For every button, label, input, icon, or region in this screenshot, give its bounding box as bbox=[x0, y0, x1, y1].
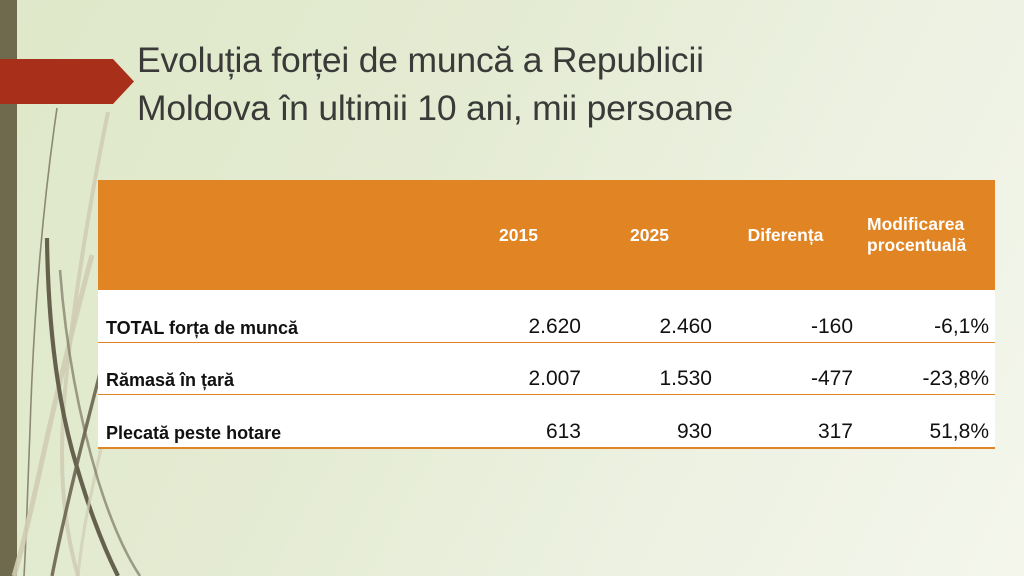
table-body: TOTAL forța de muncă 2.620 2.460 -160 -6… bbox=[98, 290, 995, 448]
page-title: Evoluția forței de muncă a Republicii Mo… bbox=[137, 36, 897, 132]
row-label-departed: Plecată peste hotare bbox=[98, 395, 458, 448]
table-row: Plecată peste hotare 613 930 317 51,8% bbox=[98, 395, 995, 448]
cell-remained-2025: 1.530 bbox=[589, 342, 720, 395]
table-header-row: 2015 2025 Diferența Modificarea procentu… bbox=[98, 180, 995, 290]
page-title-line-1: Evoluția forței de muncă a Republicii bbox=[137, 36, 897, 84]
column-header-percent-change: Modificarea procentuală bbox=[861, 180, 995, 290]
column-header-label bbox=[98, 180, 458, 290]
column-header-percent-change-line-2: procentuală bbox=[867, 235, 966, 255]
cell-remained-percent-change: -23,8% bbox=[861, 342, 995, 395]
cell-departed-difference: 317 bbox=[720, 395, 861, 448]
column-header-difference: Diferența bbox=[720, 180, 861, 290]
table-header-row-group: 2015 2025 Diferența Modificarea procentu… bbox=[98, 180, 995, 290]
row-label-total: TOTAL forța de muncă bbox=[98, 290, 458, 342]
page-title-line-2: Moldova în ultimii 10 ani, mii persoane bbox=[137, 84, 897, 132]
table-row: Rămasă în țară 2.007 1.530 -477 -23,8% bbox=[98, 342, 995, 395]
cell-departed-2025: 930 bbox=[589, 395, 720, 448]
column-header-percent-change-line-1: Modificarea bbox=[867, 214, 964, 234]
cell-departed-2015: 613 bbox=[458, 395, 589, 448]
cell-total-2015: 2.620 bbox=[458, 290, 589, 342]
cell-remained-2015: 2.007 bbox=[458, 342, 589, 395]
slide-canvas: Evoluția forței de muncă a Republicii Mo… bbox=[0, 0, 1024, 576]
cell-total-difference: -160 bbox=[720, 290, 861, 342]
column-header-2015: 2015 bbox=[458, 180, 589, 290]
labor-force-table-container: 2015 2025 Diferența Modificarea procentu… bbox=[98, 180, 995, 449]
labor-force-table: 2015 2025 Diferența Modificarea procentu… bbox=[98, 180, 995, 449]
table-row: TOTAL forța de muncă 2.620 2.460 -160 -6… bbox=[98, 290, 995, 342]
right-arrow-banner-icon bbox=[0, 59, 134, 104]
cell-departed-percent-change: 51,8% bbox=[861, 395, 995, 448]
column-header-2025: 2025 bbox=[589, 180, 720, 290]
cell-total-percent-change: -6,1% bbox=[861, 290, 995, 342]
cell-total-2025: 2.460 bbox=[589, 290, 720, 342]
cell-remained-difference: -477 bbox=[720, 342, 861, 395]
row-label-remained: Rămasă în țară bbox=[98, 342, 458, 395]
